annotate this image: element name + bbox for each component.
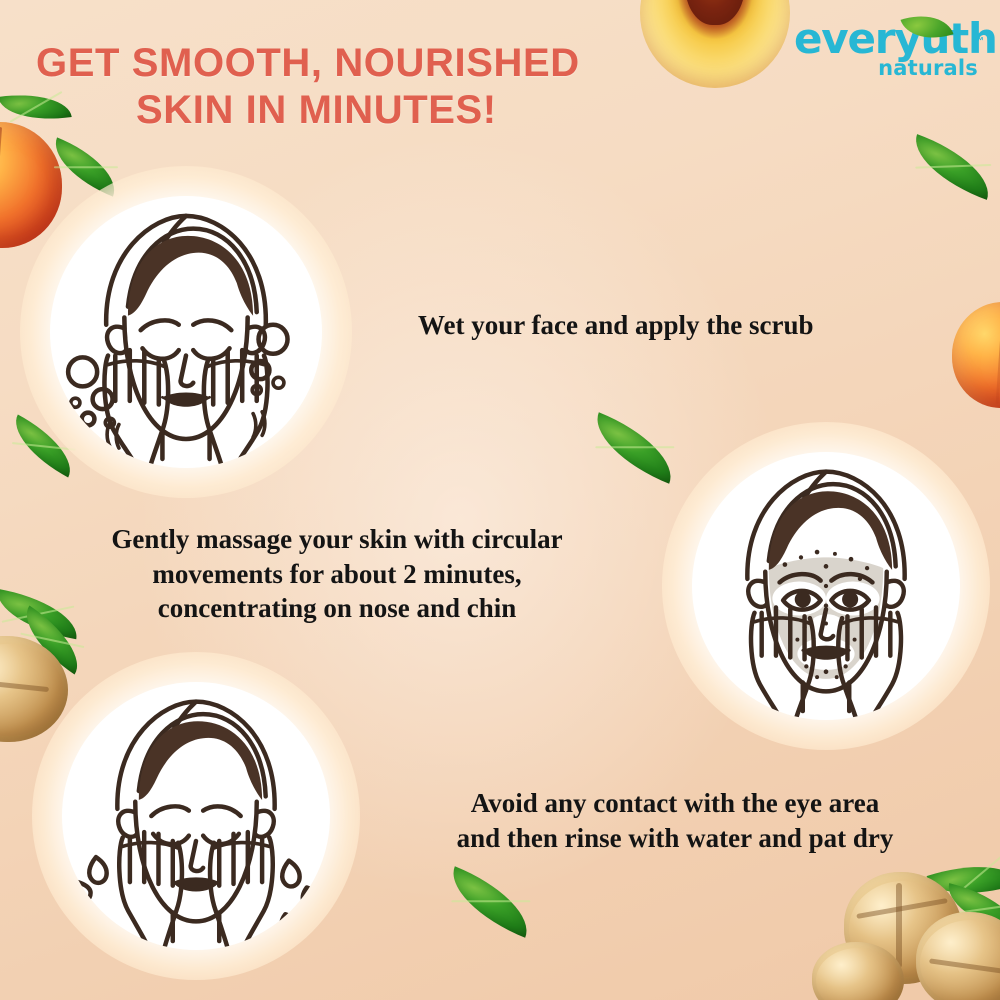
step-2-caption-line-2: movements for about 2 minutes,	[152, 559, 521, 589]
headline-line-2: SKIN IN MINUTES!	[36, 87, 676, 134]
peach-right-edge-icon	[952, 302, 1000, 408]
walnut-kernel	[0, 644, 63, 735]
leaf-center-icon	[584, 412, 684, 484]
leaf-top-right-icon	[904, 134, 1000, 200]
step-2-caption-line-1: Gently massage your skin with circular	[111, 524, 562, 554]
woman-washing-face-with-bubbles-icon	[50, 196, 322, 468]
step-2-illustration	[692, 452, 960, 720]
walnut-kernel-bottom-right-icon	[812, 942, 904, 1000]
step-3-caption-line-1: Avoid any contact with the eye area	[471, 788, 879, 818]
peach-pit	[685, 0, 745, 25]
circle-frame	[62, 682, 330, 950]
walnut-groove	[856, 898, 948, 919]
brand-logo: everyuth ™ naturals	[794, 14, 984, 88]
step-3-illustration	[62, 682, 330, 950]
peach-crease	[0, 127, 2, 243]
logo-brand-text: everyuth	[794, 18, 997, 60]
step-2-caption-line-3: concentrating on nose and chin	[158, 593, 517, 623]
page-title: GET SMOOTH, NOURISHED SKIN IN MINUTES!	[36, 40, 676, 134]
step-3-caption: Avoid any contact with the eye area and …	[392, 786, 958, 855]
peach-crease	[996, 306, 1000, 403]
step-3-caption-line-2: and then rinse with water and pat dry	[457, 823, 894, 853]
walnut-kernel	[849, 881, 958, 977]
step-1-caption: Wet your face and apply the scrub	[418, 308, 938, 343]
walnut-kernel	[816, 948, 901, 1000]
step-1-illustration	[50, 196, 322, 468]
circle-frame	[50, 196, 322, 468]
walnut-groove	[896, 883, 902, 968]
step-2-caption: Gently massage your skin with circular m…	[52, 522, 622, 626]
logo-trademark: ™	[974, 36, 984, 47]
woman-rinsing-face-with-water-icon	[62, 682, 330, 950]
walnut-kernel	[920, 920, 1000, 1000]
circle-frame	[692, 452, 960, 720]
leaf-bottom-right-icon	[927, 850, 1000, 911]
walnut-groove	[0, 679, 49, 692]
woman-massaging-scrub-mask-icon	[692, 452, 960, 720]
walnut-groove	[929, 958, 1000, 974]
leaf-bottom-right-2-icon	[941, 883, 1000, 935]
leaf-bottom-center-icon	[440, 866, 540, 938]
logo-subtitle-text: naturals	[878, 58, 978, 79]
walnut-half-bottom-right-icon	[916, 912, 1000, 1000]
poster-canvas: GET SMOOTH, NOURISHED SKIN IN MINUTES! e…	[0, 0, 1000, 1000]
headline-line-1: GET SMOOTH, NOURISHED	[36, 40, 676, 87]
walnut-shell-bottom-right-icon	[844, 872, 962, 984]
